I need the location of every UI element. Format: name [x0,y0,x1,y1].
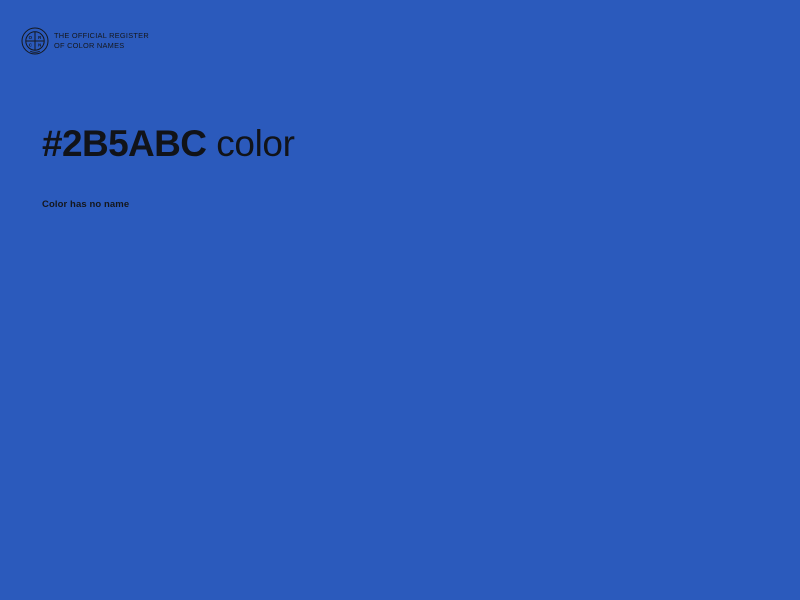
color-info-block: #2B5ABC color Color has no name [42,120,742,212]
site-title-line-1: THE OFFICIAL REGISTER [54,31,149,41]
site-title: THE OFFICIAL REGISTER OF COLOR NAMES [54,31,149,50]
site-title-line-2: OF COLOR NAMES [54,41,149,51]
site-logo-link[interactable]: O R C N THE OFFICIAL REGISTER OF COLOR N… [21,27,149,55]
svg-text:N: N [38,43,41,48]
page-title: #2B5ABC color [42,120,742,168]
svg-text:O: O [29,35,33,40]
register-seal-icon: O R C N [21,27,49,55]
svg-text:R: R [38,35,42,40]
color-page: O R C N THE OFFICIAL REGISTER OF COLOR N… [0,0,800,600]
svg-text:C: C [29,43,33,48]
color-hex-value: #2B5ABC [42,123,206,164]
color-name-status: Color has no name [42,168,742,212]
page-title-suffix: color [206,123,294,164]
